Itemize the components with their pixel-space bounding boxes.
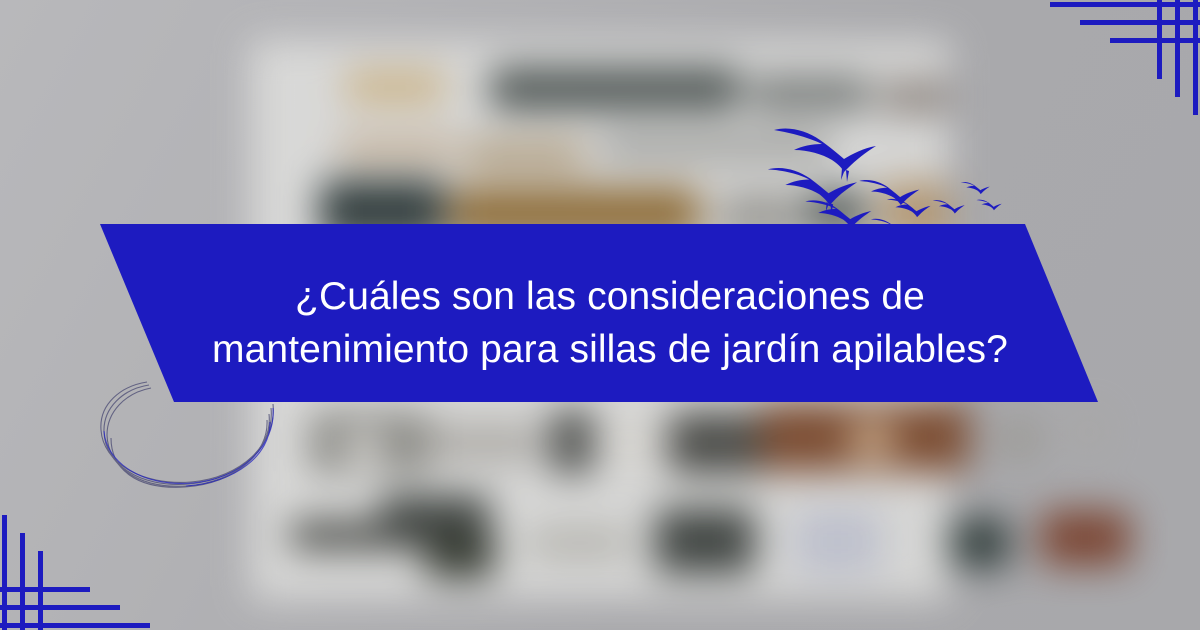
photo-object	[998, 418, 1040, 460]
corner-line-v	[20, 533, 25, 630]
bird-icon	[887, 199, 931, 217]
photo-object	[605, 418, 655, 466]
sketch-swirl-ellipse	[95, 378, 285, 498]
corner-lines-top-right	[1030, 0, 1200, 130]
photo-object	[950, 518, 1010, 568]
photo-object	[530, 530, 630, 556]
bird-icon	[871, 219, 912, 236]
corner-line-v	[1175, 0, 1180, 97]
bird-icon	[774, 128, 876, 182]
photo-object	[346, 432, 382, 466]
corner-line-h	[0, 605, 120, 610]
photo-object	[850, 420, 894, 460]
corner-line-v	[38, 551, 43, 630]
photo-object	[668, 412, 768, 474]
corner-line-v	[1193, 0, 1198, 115]
photo-object	[425, 530, 495, 578]
photo-object	[655, 508, 755, 574]
photo-object	[1074, 412, 1104, 452]
corner-line-v	[2, 515, 7, 630]
corner-line-h	[0, 587, 90, 592]
photo-object	[320, 180, 445, 242]
bird-flock	[762, 112, 1012, 237]
bird-icon	[805, 200, 871, 231]
photo-object	[420, 424, 540, 462]
photo-object	[380, 495, 490, 535]
bird-icon	[768, 168, 857, 214]
bird-icon	[961, 182, 990, 194]
corner-line-h	[1080, 20, 1200, 25]
photo-object	[450, 188, 700, 240]
photo-object	[465, 140, 585, 170]
photo-object	[880, 80, 950, 114]
photo-object	[1040, 510, 1130, 566]
photo-object	[750, 76, 870, 112]
photo-object	[490, 68, 740, 110]
corner-lines-bottom-left	[0, 500, 170, 630]
photo-object	[550, 410, 594, 474]
bird-icon	[977, 200, 1002, 211]
photo-object	[795, 510, 880, 574]
social-card-canvas: ¿Cuáles son las consideraciones de mante…	[0, 0, 1200, 630]
corner-line-h	[1110, 38, 1200, 43]
photo-object	[345, 70, 445, 104]
corner-line-v	[1157, 0, 1162, 79]
bird-icon	[933, 200, 965, 213]
bird-icon	[859, 180, 919, 205]
photo-object	[338, 136, 458, 162]
